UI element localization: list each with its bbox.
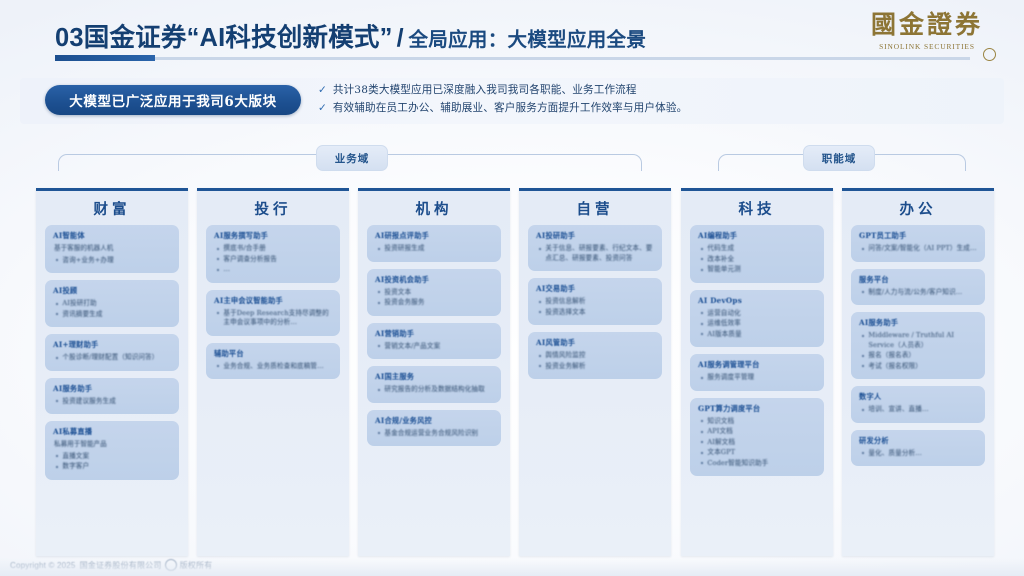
capability-card-item-text: 量化、质量分析… bbox=[868, 449, 922, 459]
capability-card-title: AI投资机会助手 bbox=[375, 275, 493, 285]
column-card-list: AI编程助手代码生成改本补全智能单元测AI DevOps运营自动化运维低效率AI… bbox=[681, 225, 833, 491]
capability-card-item-text: 投资业务解析 bbox=[545, 362, 585, 372]
capability-card-item: API文档 bbox=[698, 427, 816, 437]
capability-card-item-text: 问答/文案/智能化（AI PPT）生成… bbox=[868, 244, 976, 254]
capability-card[interactable]: AI主申会议智能助手基于Deep Research支持尽调整的主申会议事项中的分… bbox=[206, 290, 340, 336]
column-header-label: 投行 bbox=[255, 198, 292, 219]
capability-card-title: AI服务调管理平台 bbox=[698, 360, 816, 370]
bullet-dot-icon bbox=[56, 259, 58, 261]
capability-card-item-text: … bbox=[223, 265, 230, 275]
logo-seal-icon bbox=[983, 48, 996, 61]
highlight-badge: 大模型已广泛应用于我司6大版块 bbox=[45, 85, 301, 115]
capability-card-title: AI国主服务 bbox=[375, 372, 493, 382]
capability-card-item: AI版本质量 bbox=[698, 330, 816, 340]
bullet-dot-icon bbox=[56, 357, 58, 359]
capability-card-item: 考试（报名权限） bbox=[859, 362, 977, 372]
column-header-label: 科技 bbox=[739, 198, 776, 219]
capability-card-item-text: 报名（报名表） bbox=[868, 351, 915, 361]
bullet-dot-icon bbox=[862, 409, 864, 411]
column-header: 财富 bbox=[36, 191, 188, 225]
column-header: 办公 bbox=[842, 191, 994, 225]
capability-card-item: 投资会务服务 bbox=[375, 298, 493, 308]
capability-card-title: AI合规/业务风控 bbox=[375, 416, 493, 426]
column-header: 投行 bbox=[197, 191, 349, 225]
capability-card[interactable]: 数字人培训、宣讲、直播… bbox=[851, 386, 985, 423]
bullet-dot-icon bbox=[862, 248, 864, 250]
capability-column[interactable]: 机构AI研报点评助手投资研报生成AI投资机会助手投资文本投资会务服务AI营销助手… bbox=[358, 188, 510, 556]
capability-card-item-text: 培训、宣讲、直播… bbox=[868, 405, 928, 415]
capability-card[interactable]: AI投研助手关于信息、研报要素、行纪文本、要点汇总、研报要素、投资问答 bbox=[528, 225, 662, 271]
column-header-label: 自营 bbox=[577, 198, 614, 219]
bullet-dot-icon bbox=[862, 452, 864, 454]
capability-card[interactable]: AI合规/业务风控基金合规运营业务合规风险识别 bbox=[367, 410, 501, 447]
capability-card-item: 知识文档 bbox=[698, 417, 816, 427]
capability-card-item: 制度/人力与流/公务/客户知识… bbox=[859, 288, 977, 298]
capability-card-item: 直播文案 bbox=[53, 452, 171, 462]
bullet-dot-icon bbox=[862, 365, 864, 367]
capability-column[interactable]: 财富AI智能体基于客服的机器人机咨询+业务+办理AI投顾AI投研打助资讯摘要生成… bbox=[36, 188, 188, 556]
capability-card-item-text: 代码生成 bbox=[707, 244, 734, 254]
bullet-dot-icon bbox=[217, 258, 219, 260]
bullet-dot-icon bbox=[56, 313, 58, 315]
capability-card[interactable]: AI研报点评助手投资研报生成 bbox=[367, 225, 501, 262]
bullet-dot-icon bbox=[56, 303, 58, 305]
capability-card-item: 研究报告的分析及数据结构化抽取 bbox=[375, 385, 493, 395]
bullet-dot-icon bbox=[862, 335, 864, 337]
capability-card-item: 咨询+业务+办理 bbox=[53, 256, 171, 266]
header-rule-accent bbox=[55, 55, 155, 61]
capability-card[interactable]: AI服务调管理平台服务调度平管理 bbox=[690, 354, 824, 391]
bullet-dot-icon bbox=[217, 365, 219, 367]
capability-card-item: 报名（报名表） bbox=[859, 351, 977, 361]
bullet-dot-icon bbox=[701, 377, 703, 379]
capability-card[interactable]: AI营销助手营销文本/产品文案 bbox=[367, 323, 501, 360]
bottom-fade bbox=[0, 558, 1024, 576]
capability-card-item-text: 咨询+业务+办理 bbox=[62, 256, 113, 266]
capability-card[interactable]: AI风管助手舆情风险监控投资业务解析 bbox=[528, 332, 662, 379]
capability-card-item: 投资业务解析 bbox=[536, 362, 654, 372]
summary-bullet-item: ✓ 有效辅助在员工办公、辅助展业、客户服务方面提升工作效率与用户体验。 bbox=[318, 101, 978, 116]
capability-card-item: 投资信息解析 bbox=[536, 297, 654, 307]
capability-card[interactable]: AI国主服务研究报告的分析及数据结构化抽取 bbox=[367, 366, 501, 403]
capability-card-item-text: 文本GPT bbox=[707, 448, 735, 458]
summary-bullet-text: 共计38类大模型应用已深度融入我司我司各职能、业务工作流程 bbox=[333, 83, 637, 98]
bullet-dot-icon bbox=[217, 312, 219, 314]
capability-card-item-text: 智能单元测 bbox=[707, 265, 740, 275]
capability-card-item-text: AI解文档 bbox=[707, 438, 735, 448]
sinolink-logo: 國金證券 SINOLINK SECURITIES bbox=[852, 10, 1002, 62]
summary-bullet-text: 有效辅助在员工办公、辅助展业、客户服务方面提升工作效率与用户体验。 bbox=[333, 101, 688, 116]
bullet-dot-icon bbox=[217, 248, 219, 250]
column-header-label: 办公 bbox=[900, 198, 937, 219]
capability-card[interactable]: AI服务助手Middleware / Truthful AI Service（人… bbox=[851, 312, 985, 379]
capability-card-title: AI私募直播 bbox=[53, 427, 171, 437]
capability-card-item: 数字客户 bbox=[53, 462, 171, 472]
capability-card-item-text: 基于Deep Research支持尽调整的主申会议事项中的分析… bbox=[223, 309, 332, 328]
summary-bullet-list: ✓ 共计38类大模型应用已深度融入我司我司各职能、业务工作流程 ✓ 有效辅助在员… bbox=[318, 83, 978, 119]
column-header-label: 机构 bbox=[416, 198, 453, 219]
capability-card-item: AI投研打助 bbox=[53, 299, 171, 309]
capability-card-item-text: API文档 bbox=[707, 427, 733, 437]
bullet-dot-icon bbox=[701, 420, 703, 422]
capability-card-item: Middleware / Truthful AI Service（人员表） bbox=[859, 331, 977, 350]
capability-card-item-text: 个股诊断/理财配置（知识问答） bbox=[62, 353, 158, 363]
bullet-dot-icon bbox=[539, 355, 541, 357]
bullet-dot-icon bbox=[378, 291, 380, 293]
capability-card-item: 培训、宣讲、直播… bbox=[859, 405, 977, 415]
capability-card-title: AI+理财助手 bbox=[53, 340, 171, 350]
capability-card-item-text: 运营自动化 bbox=[707, 309, 740, 319]
capability-card-item-text: 考试（报名权限） bbox=[868, 362, 922, 372]
capability-card-item-text: 制度/人力与流/公务/客户知识… bbox=[868, 288, 962, 298]
bullet-dot-icon bbox=[56, 400, 58, 402]
bullet-dot-icon bbox=[378, 302, 380, 304]
bullet-dot-icon bbox=[56, 466, 58, 468]
capability-card-item-text: 舆情风险监控 bbox=[545, 351, 585, 361]
capability-card[interactable]: AI投顾AI投研打助资讯摘要生成 bbox=[45, 280, 179, 327]
bullet-dot-icon bbox=[701, 333, 703, 335]
capability-card-item: … bbox=[214, 265, 332, 275]
bullet-dot-icon bbox=[539, 365, 541, 367]
slide-canvas: 03国金证券“AI科技创新模式” / 全局应用：大模型应用全景 國金證券 SIN… bbox=[0, 0, 1024, 576]
bullet-dot-icon bbox=[701, 452, 703, 454]
capability-card-title: AI研报点评助手 bbox=[375, 231, 493, 241]
capability-card-item-text: 投资研报生成 bbox=[384, 244, 424, 254]
capability-card-item-text: 数字客户 bbox=[62, 462, 89, 472]
capability-card[interactable]: AI编程助手代码生成改本补全智能单元测 bbox=[690, 225, 824, 283]
domain-bracket-group: 业务域职能域 bbox=[0, 140, 1024, 182]
capability-card-item-text: Middleware / Truthful AI Service（人员表） bbox=[868, 331, 977, 350]
capability-card-item: 服务调度平管理 bbox=[698, 373, 816, 383]
bullet-dot-icon bbox=[701, 312, 703, 314]
capability-card-title: GPT员工助手 bbox=[859, 231, 977, 241]
bullet-dot-icon bbox=[378, 248, 380, 250]
capability-card[interactable]: 研发分析量化、质量分析… bbox=[851, 430, 985, 467]
capability-card-item: 投资选择文本 bbox=[536, 308, 654, 318]
highlight-badge-label: 大模型已广泛应用于我司6大版块 bbox=[69, 90, 276, 110]
column-header: 科技 bbox=[681, 191, 833, 225]
bullet-dot-icon bbox=[539, 248, 541, 250]
capability-card-title: 辅助平台 bbox=[214, 349, 332, 359]
capability-card-item-text: 关于信息、研报要素、行纪文本、要点汇总、研报要素、投资问答 bbox=[545, 244, 654, 263]
capability-card[interactable]: 辅助平台业务合规、业务质检查和底稿管… bbox=[206, 343, 340, 380]
capability-card-item: 基于Deep Research支持尽调整的主申会议事项中的分析… bbox=[214, 309, 332, 328]
bullet-dot-icon bbox=[539, 311, 541, 313]
capability-card-item-text: 投资建议服务生成 bbox=[62, 397, 116, 407]
capability-card-title: AI服务撰写助手 bbox=[214, 231, 332, 241]
capability-card-item-text: 客户调查分析报告 bbox=[223, 255, 277, 265]
capability-card-item-text: AI版本质量 bbox=[707, 330, 741, 340]
title-subtitle: 全局应用：大模型应用全景 bbox=[409, 23, 647, 52]
capability-card[interactable]: AI服务助手投资建议服务生成 bbox=[45, 378, 179, 415]
capability-card-item-text: 改本补全 bbox=[707, 255, 734, 265]
column-card-list: AI服务撰写助手撰底书/合手册客户调查分析报告…AI主申会议智能助手基于Deep… bbox=[197, 225, 349, 394]
capability-card-item: 舆情风险监控 bbox=[536, 351, 654, 361]
domain-bracket: 业务域 bbox=[58, 154, 642, 172]
bullet-dot-icon bbox=[701, 441, 703, 443]
capability-card-item: Coder智能知识助手 bbox=[698, 459, 816, 469]
capability-card-title: AI编程助手 bbox=[698, 231, 816, 241]
capability-card-item: 运营自动化 bbox=[698, 309, 816, 319]
column-header-label: 财富 bbox=[94, 198, 131, 219]
capability-card-title: AI投研助手 bbox=[536, 231, 654, 241]
logo-roman-text: SINOLINK SECURITIES bbox=[852, 42, 1002, 51]
capability-card[interactable]: AI+理财助手个股诊断/理财配置（知识问答） bbox=[45, 334, 179, 371]
capability-card-item-text: 研究报告的分析及数据结构化抽取 bbox=[384, 385, 484, 395]
slide-header: 03国金证券“AI科技创新模式” / 全局应用：大模型应用全景 國金證券 SIN… bbox=[0, 0, 1024, 66]
bullet-dot-icon bbox=[378, 432, 380, 434]
title-main: 03国金证券“AI科技创新模式” bbox=[55, 17, 393, 54]
capability-card-item-text: 基金合规运营业务合规风险识别 bbox=[384, 429, 478, 439]
capability-card-item: 问答/文案/智能化（AI PPT）生成… bbox=[859, 244, 977, 254]
page-title: 03国金证券“AI科技创新模式” / 全局应用：大模型应用全景 bbox=[55, 17, 646, 54]
bullet-dot-icon bbox=[701, 431, 703, 433]
capability-column[interactable]: 办公GPT员工助手问答/文案/智能化（AI PPT）生成…服务平台制度/人力与流… bbox=[842, 188, 994, 556]
bullet-dot-icon bbox=[378, 389, 380, 391]
column-card-list: AI智能体基于客服的机器人机咨询+业务+办理AI投顾AI投研打助资讯摘要生成AI… bbox=[36, 225, 188, 495]
capability-card-item-text: 直播文案 bbox=[62, 452, 89, 462]
bullet-dot-icon bbox=[701, 269, 703, 271]
capability-card-item-text: 营销文本/产品文案 bbox=[384, 342, 440, 352]
capability-column[interactable]: 科技AI编程助手代码生成改本补全智能单元测AI DevOps运营自动化运维低效率… bbox=[681, 188, 833, 556]
capability-card-item: 资讯摘要生成 bbox=[53, 310, 171, 320]
capability-card-item: 量化、质量分析… bbox=[859, 449, 977, 459]
capability-card[interactable]: GPT员工助手问答/文案/智能化（AI PPT）生成… bbox=[851, 225, 985, 262]
capability-card[interactable]: 服务平台制度/人力与流/公务/客户知识… bbox=[851, 269, 985, 306]
capability-card-title: AI营销助手 bbox=[375, 329, 493, 339]
capability-card-item-text: 撰底书/合手册 bbox=[223, 244, 265, 254]
capability-card-title: AI交易助手 bbox=[536, 284, 654, 294]
domain-label-text: 职能域 bbox=[822, 151, 857, 166]
capability-card-item-text: 服务调度平管理 bbox=[707, 373, 754, 383]
bullet-dot-icon bbox=[539, 301, 541, 303]
capability-card-item-text: 业务合规、业务质检查和底稿管… bbox=[223, 362, 323, 372]
bullet-dot-icon bbox=[56, 455, 58, 457]
domain-label-chip: 职能域 bbox=[803, 145, 875, 171]
capability-card-item: 投资建议服务生成 bbox=[53, 397, 171, 407]
capability-card-item-text: 投资文本 bbox=[384, 288, 411, 298]
capability-card-item: AI解文档 bbox=[698, 438, 816, 448]
capability-card-title: AI服务助手 bbox=[859, 318, 977, 328]
bullet-dot-icon bbox=[862, 355, 864, 357]
capability-card-item: 关于信息、研报要素、行纪文本、要点汇总、研报要素、投资问答 bbox=[536, 244, 654, 263]
capability-card-item: 文本GPT bbox=[698, 448, 816, 458]
column-card-list: AI研报点评助手投资研报生成AI投资机会助手投资文本投资会务服务AI营销助手营销… bbox=[358, 225, 510, 461]
bullet-dot-icon bbox=[701, 323, 703, 325]
column-header: 机构 bbox=[358, 191, 510, 225]
capability-card-item: 投资研报生成 bbox=[375, 244, 493, 254]
domain-bracket: 职能域 bbox=[718, 154, 966, 172]
capability-card-item: 投资文本 bbox=[375, 288, 493, 298]
logo-cjk-text: 國金證券 bbox=[852, 10, 1002, 40]
domain-label-chip: 业务域 bbox=[316, 145, 388, 171]
capability-card[interactable]: AI投资机会助手投资文本投资会务服务 bbox=[367, 269, 501, 316]
capability-card-item: 业务合规、业务质检查和底稿管… bbox=[214, 362, 332, 372]
capability-card-item-text: 运维低效率 bbox=[707, 319, 740, 329]
capability-card-item-text: 资讯摘要生成 bbox=[62, 310, 102, 320]
capability-card-item: 运维低效率 bbox=[698, 319, 816, 329]
column-card-list: AI投研助手关于信息、研报要素、行纪文本、要点汇总、研报要素、投资问答AI交易助… bbox=[519, 225, 671, 394]
bullet-dot-icon bbox=[701, 462, 703, 464]
capability-card-lead: 基于客服的机器人机 bbox=[53, 244, 171, 254]
capability-card-item: 智能单元测 bbox=[698, 265, 816, 275]
capability-card-title: AI DevOps bbox=[698, 296, 816, 306]
capability-card-item: 个股诊断/理财配置（知识问答） bbox=[53, 353, 171, 363]
capability-card-title: AI智能体 bbox=[53, 231, 171, 241]
capability-card-item: 撰底书/合手册 bbox=[214, 244, 332, 254]
capability-card-item-text: 投资选择文本 bbox=[545, 308, 585, 318]
capability-card[interactable]: AI DevOps运营自动化运维低效率AI版本质量 bbox=[690, 290, 824, 348]
capability-card-title: 研发分析 bbox=[859, 436, 977, 446]
bullet-dot-icon bbox=[378, 345, 380, 347]
domain-label-text: 业务域 bbox=[335, 151, 370, 166]
bullet-dot-icon bbox=[701, 248, 703, 250]
capability-card-title: AI主申会议智能助手 bbox=[214, 296, 332, 306]
bullet-dot-icon bbox=[217, 269, 219, 271]
capability-card-item: 改本补全 bbox=[698, 255, 816, 265]
column-card-list: GPT员工助手问答/文案/智能化（AI PPT）生成…服务平台制度/人力与流/公… bbox=[842, 225, 994, 481]
capability-column[interactable]: 自营AI投研助手关于信息、研报要素、行纪文本、要点汇总、研报要素、投资问答AI交… bbox=[519, 188, 671, 556]
capability-card-item-text: 投资信息解析 bbox=[545, 297, 585, 307]
capability-card[interactable]: AI交易助手投资信息解析投资选择文本 bbox=[528, 278, 662, 325]
capability-card[interactable]: AI服务撰写助手撰底书/合手册客户调查分析报告… bbox=[206, 225, 340, 283]
capability-card[interactable]: GPT算力调度平台知识文档API文档AI解文档文本GPTCoder智能知识助手 bbox=[690, 398, 824, 477]
capability-card-item: 营销文本/产品文案 bbox=[375, 342, 493, 352]
capability-card-lead: 私募用于智能产品 bbox=[53, 440, 171, 450]
title-separator: / bbox=[397, 24, 404, 53]
capability-card-title: AI服务助手 bbox=[53, 384, 171, 394]
check-icon: ✓ bbox=[318, 101, 327, 116]
capability-card-title: AI投顾 bbox=[53, 286, 171, 296]
capability-card-title: AI风管助手 bbox=[536, 338, 654, 348]
summary-bullet-item: ✓ 共计38类大模型应用已深度融入我司我司各职能、业务工作流程 bbox=[318, 83, 978, 98]
capability-card-item: 基金合规运营业务合规风险识别 bbox=[375, 429, 493, 439]
capability-card-item: 客户调查分析报告 bbox=[214, 255, 332, 265]
check-icon: ✓ bbox=[318, 83, 327, 98]
capability-column-group: 财富AI智能体基于客服的机器人机咨询+业务+办理AI投顾AI投研打助资讯摘要生成… bbox=[0, 188, 1024, 556]
capability-card-item-text: Coder智能知识助手 bbox=[707, 459, 768, 469]
header-rule bbox=[55, 57, 970, 60]
capability-column[interactable]: 投行AI服务撰写助手撰底书/合手册客户调查分析报告…AI主申会议智能助手基于De… bbox=[197, 188, 349, 556]
capability-card-title: 数字人 bbox=[859, 392, 977, 402]
bullet-dot-icon bbox=[701, 258, 703, 260]
capability-card-item-text: AI投研打助 bbox=[62, 299, 96, 309]
capability-card-item: 代码生成 bbox=[698, 244, 816, 254]
capability-card-item-text: 知识文档 bbox=[707, 417, 734, 427]
capability-card-item-text: 投资会务服务 bbox=[384, 298, 424, 308]
capability-card[interactable]: AI私募直播私募用于智能产品直播文案数字客户 bbox=[45, 421, 179, 480]
capability-card-title: 服务平台 bbox=[859, 275, 977, 285]
capability-card-title: GPT算力调度平台 bbox=[698, 404, 816, 414]
column-header: 自营 bbox=[519, 191, 671, 225]
bullet-dot-icon bbox=[862, 291, 864, 293]
capability-card[interactable]: AI智能体基于客服的机器人机咨询+业务+办理 bbox=[45, 225, 179, 273]
